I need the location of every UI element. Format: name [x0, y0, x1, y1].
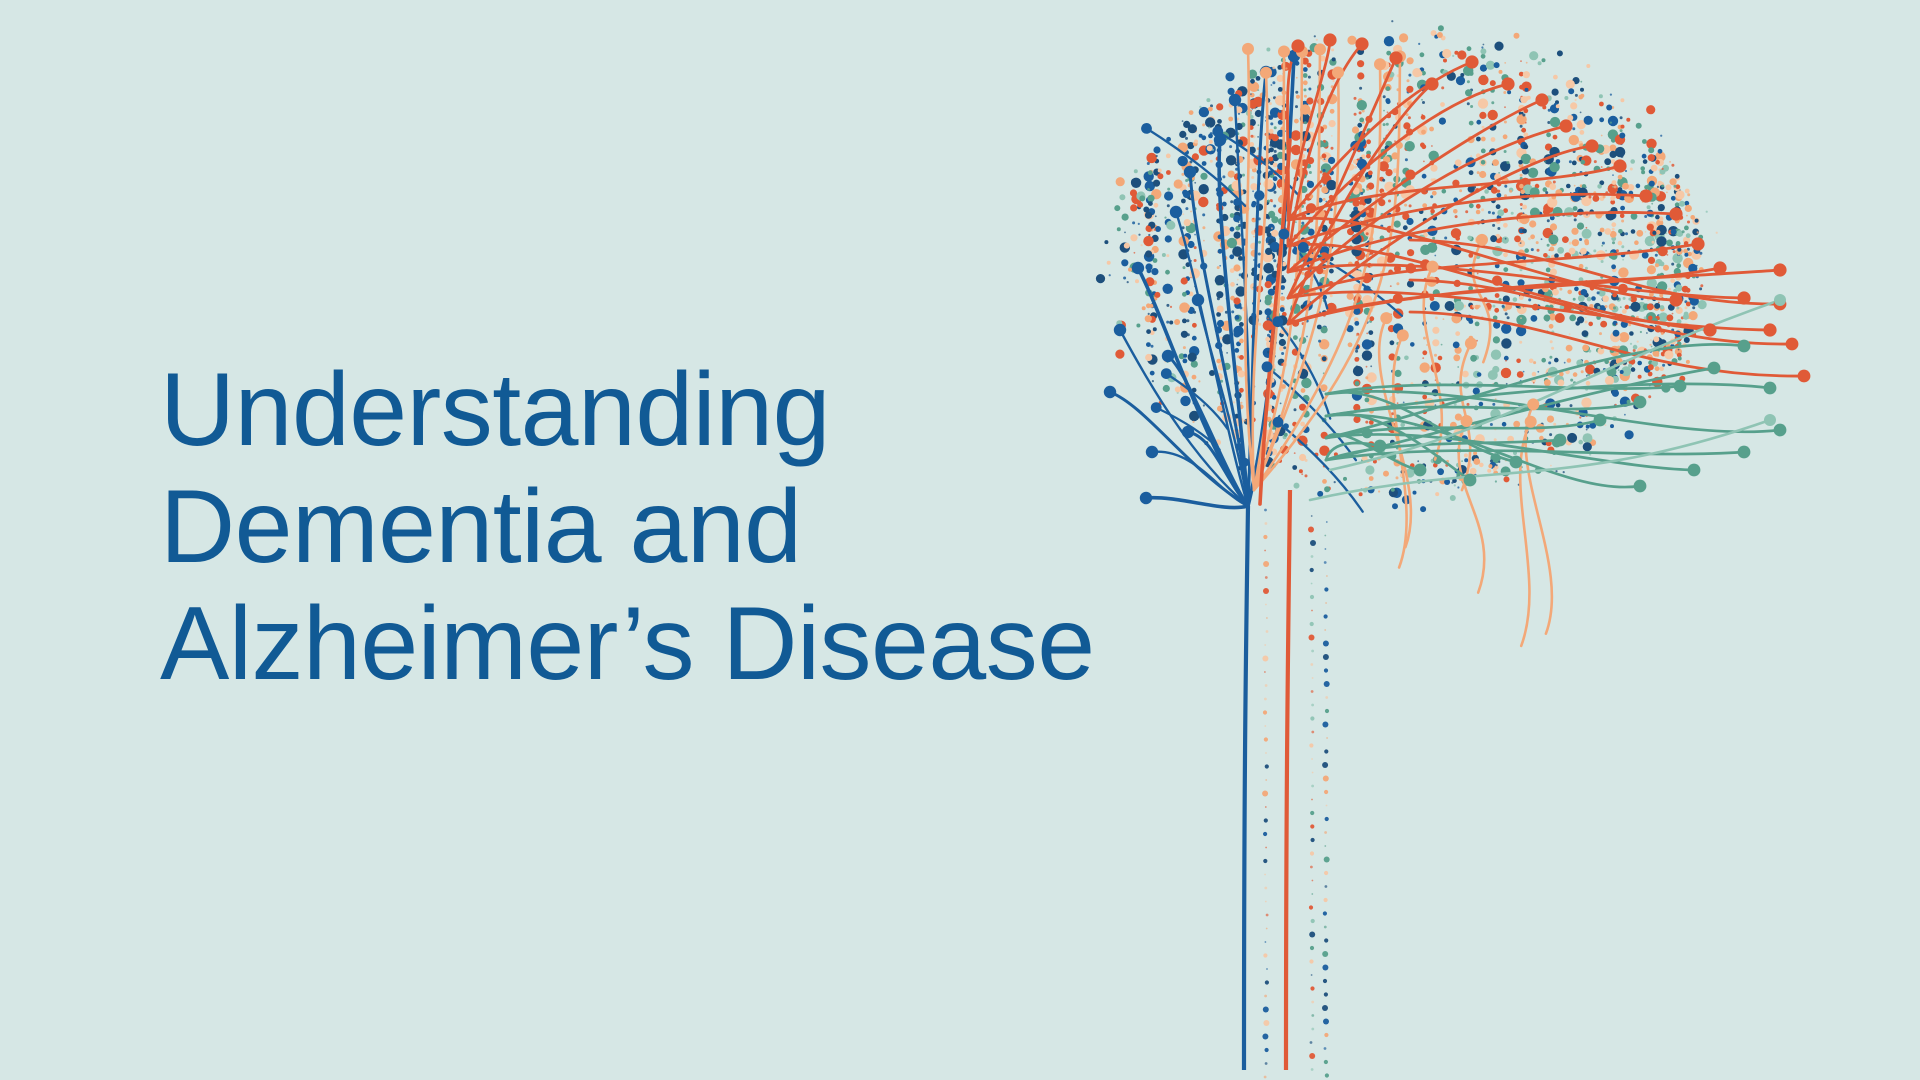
- brain-tree-illustration: [1080, 0, 1920, 1080]
- title-line-1: Understanding: [160, 352, 1160, 469]
- title-line-3: Alzheimer’s Disease: [160, 586, 1160, 703]
- slide-canvas: Understanding Dementia and Alzheimer’s D…: [0, 0, 1920, 1080]
- title-line-2: Dementia and: [160, 469, 1160, 586]
- page-title: Understanding Dementia and Alzheimer’s D…: [160, 352, 1160, 703]
